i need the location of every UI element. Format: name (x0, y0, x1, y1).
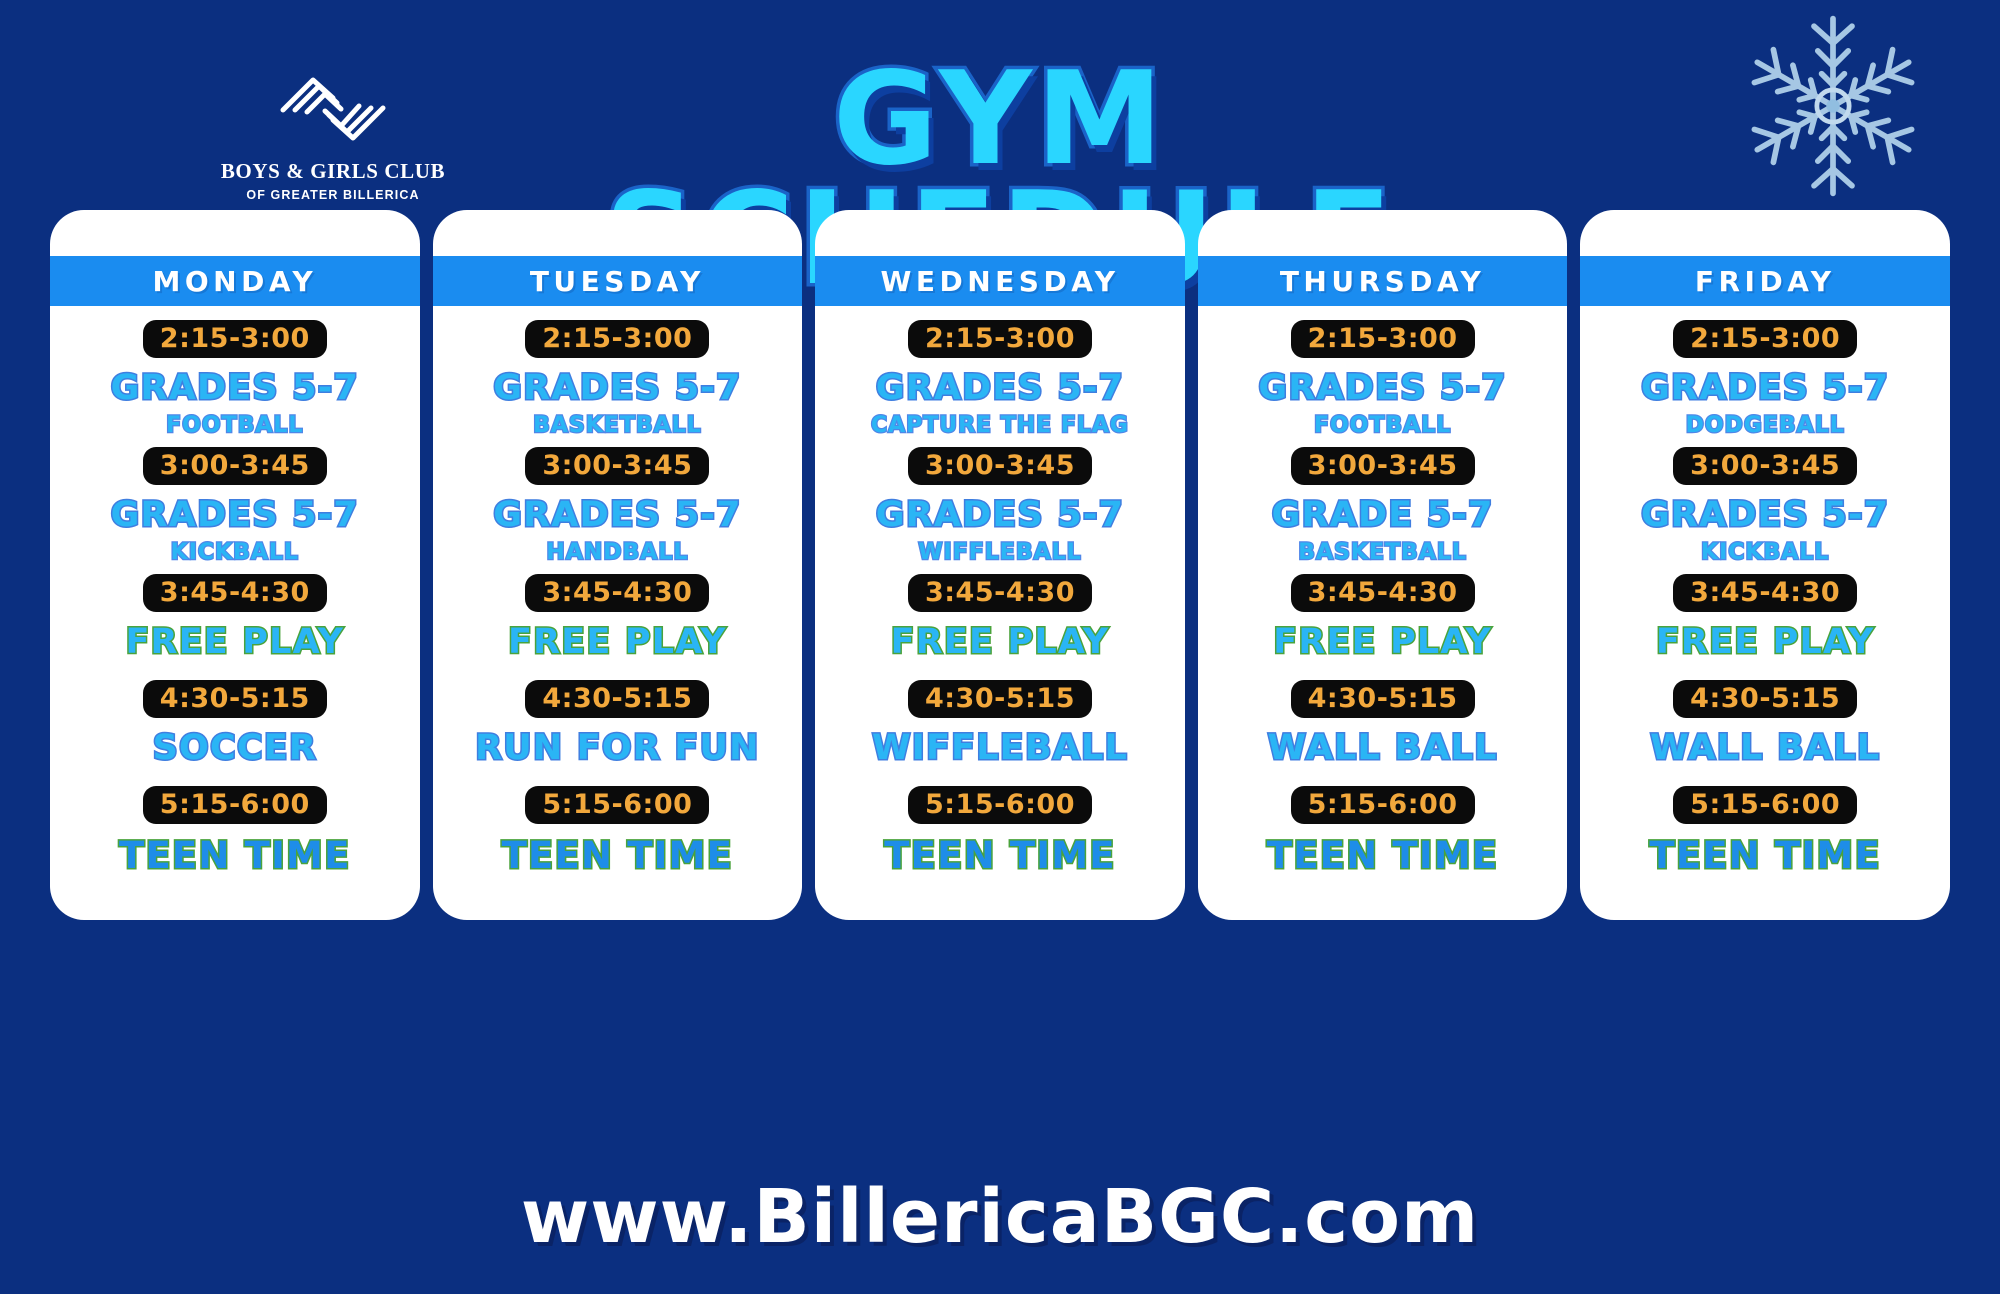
schedule-slot: 3:00-3:45GRADES 5-7KICKBALL (1588, 447, 1942, 564)
schedule-slot: 3:00-3:45GRADE 5-7BASKETBALL (1206, 447, 1560, 564)
activity-title: GRADES 5-7 (1641, 498, 1889, 533)
activity-title: GRADES 5-7 (111, 371, 359, 406)
schedule-slot: 3:45-4:30FREE PLAY (1206, 574, 1560, 660)
time-badge: 5:15-6:00 (143, 786, 327, 824)
day-name-label: FRIDAY (1695, 265, 1836, 298)
activity-title: FREE PLAY (125, 625, 344, 660)
slot-list: 2:15-3:00GRADES 5-7DODGEBALL3:00-3:45GRA… (1580, 306, 1950, 920)
logo-subtitle: OF GREATER BILLERICA (246, 188, 419, 202)
time-badge: 5:15-6:00 (1673, 786, 1857, 824)
time-badge: 4:30-5:15 (1673, 680, 1857, 718)
schedule-slot: 4:30-5:15WALL BALL (1588, 680, 1942, 766)
activity-title: WALL BALL (1268, 731, 1498, 766)
activity-subtitle: KICKBALL (171, 542, 299, 564)
time-badge: 3:45-4:30 (908, 574, 1092, 612)
day-card-thursday: THURSDAY2:15-3:00GRADES 5-7FOOTBALL3:00-… (1198, 210, 1568, 920)
activity-subtitle: FOOTBALL (166, 415, 303, 437)
schedule-slot: 5:15-6:00TEEN TIME (823, 786, 1177, 874)
activity-subtitle: BASKETBALL (533, 415, 702, 437)
time-badge: 3:45-4:30 (1673, 574, 1857, 612)
activity-title: TEEN TIME (1649, 837, 1881, 874)
handshake-icon (275, 70, 391, 148)
time-badge: 5:15-6:00 (908, 786, 1092, 824)
day-name-label: THURSDAY (1280, 265, 1486, 298)
slot-list: 2:15-3:00GRADES 5-7CAPTURE THE FLAG3:00-… (815, 306, 1185, 920)
schedule-grid: MONDAY2:15-3:00GRADES 5-7FOOTBALL3:00-3:… (50, 210, 1950, 920)
activity-title: FREE PLAY (891, 625, 1110, 660)
slot-list: 2:15-3:00GRADES 5-7FOOTBALL3:00-3:45GRAD… (1198, 306, 1568, 920)
day-header: THURSDAY (1198, 256, 1568, 306)
activity-title: FREE PLAY (1656, 625, 1875, 660)
activity-subtitle: FOOTBALL (1314, 415, 1451, 437)
activity-title: WALL BALL (1650, 731, 1880, 766)
day-name-label: MONDAY (152, 265, 317, 298)
schedule-slot: 2:15-3:00GRADES 5-7CAPTURE THE FLAG (823, 320, 1177, 437)
activity-subtitle: KICKBALL (1701, 542, 1829, 564)
schedule-slot: 4:30-5:15WALL BALL (1206, 680, 1560, 766)
activity-subtitle: BASKETBALL (1298, 542, 1467, 564)
activity-title: RUN FOR FUN (475, 731, 759, 766)
day-header: FRIDAY (1580, 256, 1950, 306)
activity-title: GRADES 5-7 (493, 498, 741, 533)
time-badge: 2:15-3:00 (1673, 320, 1857, 358)
activity-title: FREE PLAY (508, 625, 727, 660)
time-badge: 3:00-3:45 (525, 447, 709, 485)
time-badge: 5:15-6:00 (525, 786, 709, 824)
website-url: www.BillericaBGC.com (521, 1174, 1479, 1260)
time-badge: 4:30-5:15 (143, 680, 327, 718)
schedule-slot: 5:15-6:00TEEN TIME (58, 786, 412, 874)
activity-title: GRADES 5-7 (876, 498, 1124, 533)
schedule-slot: 2:15-3:00GRADES 5-7BASKETBALL (441, 320, 795, 437)
activity-subtitle: HANDBALL (546, 542, 688, 564)
activity-title: GRADES 5-7 (493, 371, 741, 406)
activity-subtitle: CAPTURE THE FLAG (871, 415, 1129, 437)
time-badge: 3:45-4:30 (525, 574, 709, 612)
day-header: WEDNESDAY (815, 256, 1185, 306)
schedule-slot: 3:00-3:45GRADES 5-7WIFFLEBALL (823, 447, 1177, 564)
time-badge: 2:15-3:00 (908, 320, 1092, 358)
activity-title: TEEN TIME (502, 837, 734, 874)
activity-title: GRADES 5-7 (1258, 371, 1506, 406)
time-badge: 3:00-3:45 (908, 447, 1092, 485)
time-badge: 3:45-4:30 (1291, 574, 1475, 612)
gym-schedule-poster: BOYS & GIRLS CLUB OF GREATER BILLERICA G… (0, 0, 2000, 1294)
time-badge: 4:30-5:15 (525, 680, 709, 718)
time-badge: 3:00-3:45 (143, 447, 327, 485)
time-badge: 2:15-3:00 (143, 320, 327, 358)
activity-title: TEEN TIME (884, 837, 1116, 874)
time-badge: 3:00-3:45 (1291, 447, 1475, 485)
day-card-monday: MONDAY2:15-3:00GRADES 5-7FOOTBALL3:00-3:… (50, 210, 420, 920)
day-card-tuesday: TUESDAY2:15-3:00GRADES 5-7BASKETBALL3:00… (433, 210, 803, 920)
day-name-label: WEDNESDAY (880, 265, 1119, 298)
logo-name: BOYS & GIRLS CLUB (221, 159, 445, 184)
schedule-slot: 3:45-4:30FREE PLAY (58, 574, 412, 660)
schedule-slot: 5:15-6:00TEEN TIME (441, 786, 795, 874)
day-card-friday: FRIDAY2:15-3:00GRADES 5-7DODGEBALL3:00-3… (1580, 210, 1950, 920)
activity-title: WIFFLEBALL (872, 731, 1128, 766)
day-name-label: TUESDAY (530, 265, 705, 298)
time-badge: 3:00-3:45 (1673, 447, 1857, 485)
schedule-slot: 2:15-3:00GRADES 5-7FOOTBALL (1206, 320, 1560, 437)
activity-title: FREE PLAY (1273, 625, 1492, 660)
schedule-slot: 4:30-5:15RUN FOR FUN (441, 680, 795, 766)
activity-title: GRADE 5-7 (1272, 498, 1494, 533)
time-badge: 2:15-3:00 (525, 320, 709, 358)
slot-list: 2:15-3:00GRADES 5-7BASKETBALL3:00-3:45GR… (433, 306, 803, 920)
poster-footer: www.BillericaBGC.com (0, 1174, 2000, 1260)
day-header: TUESDAY (433, 256, 803, 306)
snowflake-icon (1738, 8, 1928, 204)
time-badge: 5:15-6:00 (1291, 786, 1475, 824)
schedule-slot: 3:45-4:30FREE PLAY (441, 574, 795, 660)
time-badge: 4:30-5:15 (908, 680, 1092, 718)
slot-list: 2:15-3:00GRADES 5-7FOOTBALL3:00-3:45GRAD… (50, 306, 420, 920)
schedule-slot: 2:15-3:00GRADES 5-7FOOTBALL (58, 320, 412, 437)
time-badge: 3:45-4:30 (143, 574, 327, 612)
schedule-slot: 3:45-4:30FREE PLAY (823, 574, 1177, 660)
schedule-slot: 5:15-6:00TEEN TIME (1588, 786, 1942, 874)
schedule-slot: 5:15-6:00TEEN TIME (1206, 786, 1560, 874)
activity-title: GRADES 5-7 (876, 371, 1124, 406)
activity-title: TEEN TIME (1267, 837, 1499, 874)
activity-subtitle: WIFFLEBALL (918, 542, 1081, 564)
activity-subtitle: DODGEBALL (1686, 415, 1845, 437)
activity-title: SOCCER (153, 731, 317, 766)
time-badge: 2:15-3:00 (1291, 320, 1475, 358)
schedule-slot: 3:45-4:30FREE PLAY (1588, 574, 1942, 660)
schedule-slot: 3:00-3:45GRADES 5-7HANDBALL (441, 447, 795, 564)
schedule-slot: 4:30-5:15SOCCER (58, 680, 412, 766)
schedule-slot: 4:30-5:15WIFFLEBALL (823, 680, 1177, 766)
activity-title: TEEN TIME (119, 837, 351, 874)
activity-title: GRADES 5-7 (111, 498, 359, 533)
day-card-wednesday: WEDNESDAY2:15-3:00GRADES 5-7CAPTURE THE … (815, 210, 1185, 920)
schedule-slot: 3:00-3:45GRADES 5-7KICKBALL (58, 447, 412, 564)
organization-logo: BOYS & GIRLS CLUB OF GREATER BILLERICA (228, 70, 438, 202)
time-badge: 4:30-5:15 (1291, 680, 1475, 718)
schedule-slot: 2:15-3:00GRADES 5-7DODGEBALL (1588, 320, 1942, 437)
activity-title: GRADES 5-7 (1641, 371, 1889, 406)
day-header: MONDAY (50, 256, 420, 306)
